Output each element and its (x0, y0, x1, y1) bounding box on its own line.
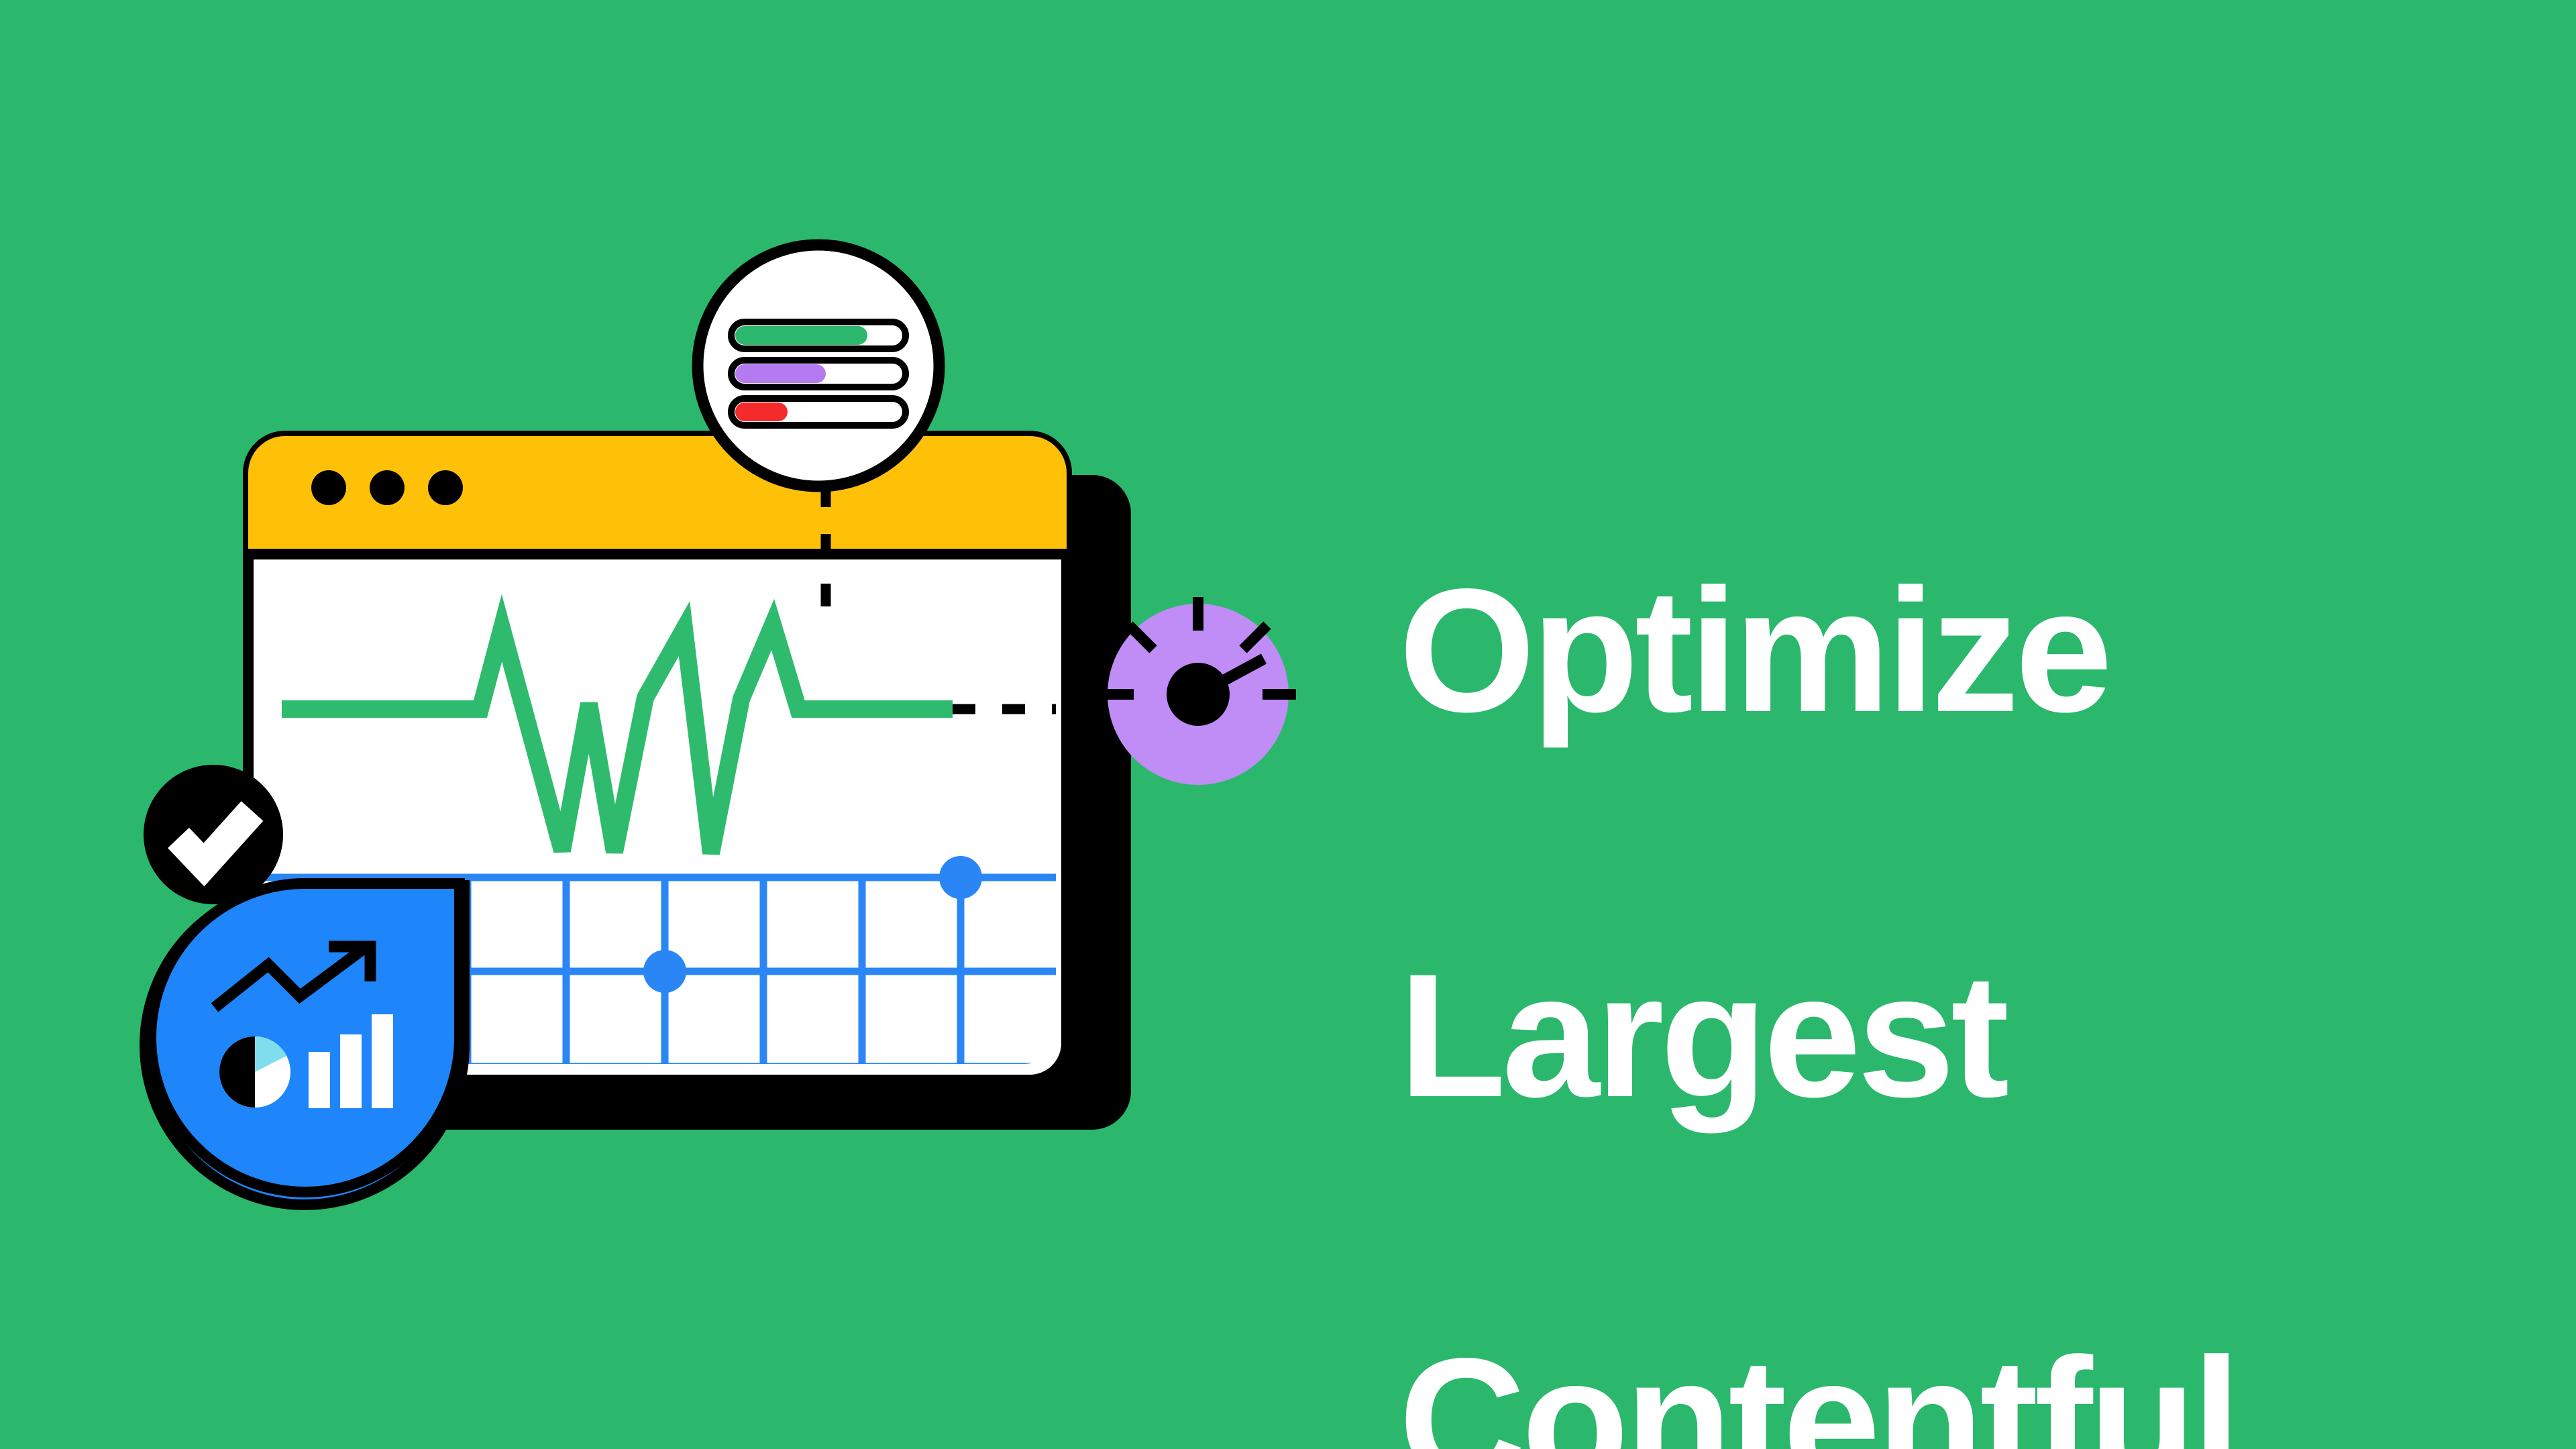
metrics-badge (698, 245, 939, 486)
progress-fill-red (735, 402, 788, 421)
data-point-2[interactable] (643, 950, 686, 993)
bar-2 (340, 1034, 362, 1108)
page-title: Optimize Largest Contentful Paint (1399, 362, 2405, 1449)
window-dot-1[interactable] (311, 470, 346, 505)
progress-fill-green (735, 326, 867, 345)
headline-line-2: Largest (1399, 940, 2405, 1132)
data-point-1[interactable] (939, 856, 982, 899)
progress-fill-purple (735, 364, 826, 383)
progress-bar-green (731, 322, 906, 349)
analytics-badge-body (151, 883, 460, 1192)
check-badge (144, 765, 283, 904)
headline-line-3: Contentful (1399, 1324, 2405, 1449)
window-dot-2[interactable] (370, 470, 405, 505)
window-dot-3[interactable] (428, 470, 463, 505)
headline-line-1: Optimize (1399, 555, 2405, 747)
analytics-badge (145, 883, 464, 1205)
gauge-hub (1167, 663, 1230, 726)
bar-3 (372, 1014, 393, 1108)
bar-1 (309, 1052, 330, 1108)
progress-bar-red (731, 398, 906, 425)
progress-bar-purple (731, 360, 906, 387)
illustration-canvas: Optimize Largest Contentful Paint (0, 0, 2576, 1449)
pie-chart-icon (219, 1036, 290, 1108)
